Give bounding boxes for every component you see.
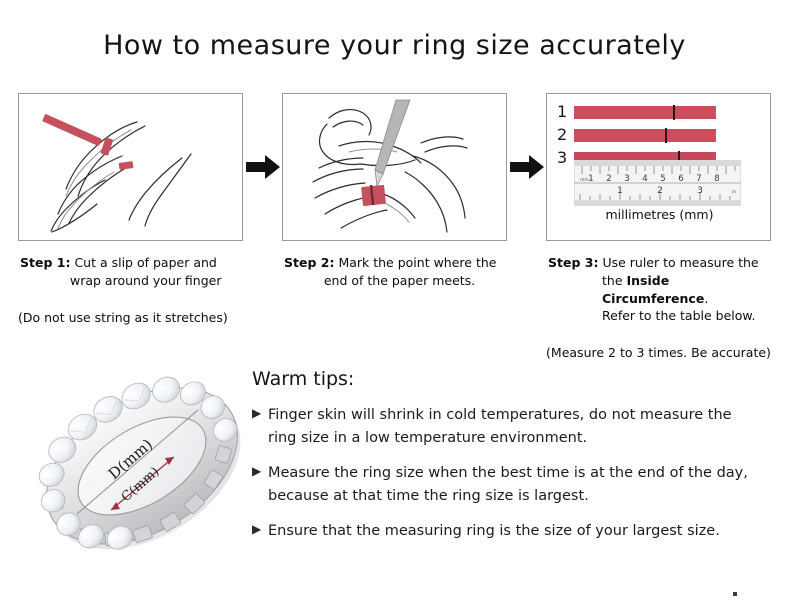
- strip-number: 3: [557, 150, 574, 166]
- step-3-column: 1 2 3: [546, 93, 771, 360]
- step-2-illustration-panel: [282, 93, 507, 241]
- svg-text:8: 8: [714, 174, 719, 184]
- strip-bar: [574, 106, 716, 119]
- ring-size-infographic: { "title": "How to measure your ring siz…: [0, 0, 789, 606]
- svg-text:2: 2: [606, 174, 611, 184]
- svg-text:4: 4: [642, 174, 647, 184]
- hand-marking-paper-with-pen-icon: [283, 94, 506, 240]
- step-2-column: Step 2: Mark the point where the end of …: [282, 93, 507, 290]
- step-3-line1: Use ruler to measure the: [602, 255, 758, 270]
- strip-mark-icon: [665, 128, 667, 143]
- tip-text: Ensure that the measuring ring is the si…: [268, 520, 720, 543]
- ruler-graphic: 12 34 56 78 mm: [574, 160, 741, 211]
- dual-scale-ruler-icon: 12 34 56 78 mm: [574, 160, 741, 206]
- bullet-triangle-icon: ▶: [252, 520, 268, 539]
- step-1-column: Step 1: Cut a slip of paper and wrap aro…: [18, 93, 243, 325]
- arrow-step1-to-step2: [243, 93, 282, 241]
- bullet-triangle-icon: ▶: [252, 404, 268, 423]
- svg-text:7: 7: [696, 174, 701, 184]
- step-3-line2-prefix: the: [602, 273, 627, 288]
- svg-text:mm: mm: [580, 178, 589, 183]
- svg-text:1: 1: [617, 186, 623, 196]
- step-2-caption: Step 2: Mark the point where the end of …: [282, 254, 507, 290]
- svg-text:in: in: [732, 189, 736, 195]
- step-1-illustration-panel: [18, 93, 243, 241]
- ring-diagram: D(mm) C(mm): [26, 352, 258, 580]
- step-2-line1: Mark the point where the: [338, 255, 496, 270]
- warm-tips-heading: Warm tips:: [252, 368, 752, 390]
- corner-artifact: [733, 592, 737, 596]
- strip-number: 2: [557, 127, 574, 143]
- step-3-note: (Measure 2 to 3 times. Be accurate): [546, 345, 771, 360]
- step-2-label: Step 2:: [284, 255, 334, 270]
- right-arrow-icon: [246, 154, 280, 180]
- svg-text:1: 1: [588, 174, 593, 184]
- step-3-label: Step 3:: [548, 255, 598, 270]
- svg-text:2: 2: [657, 186, 663, 196]
- eternity-ring-photo-icon: D(mm) C(mm): [26, 352, 258, 580]
- page-title: How to measure your ring size accurately: [0, 30, 789, 61]
- svg-text:5: 5: [660, 174, 665, 184]
- step-1-line1: Cut a slip of paper and: [74, 255, 216, 270]
- step-1-note: (Do not use string as it stretches): [18, 310, 243, 325]
- svg-text:3: 3: [624, 174, 629, 184]
- svg-text:3: 3: [697, 186, 703, 196]
- right-arrow-icon: [510, 154, 544, 180]
- tip-text: Finger skin will shrink in cold temperat…: [268, 404, 752, 451]
- warm-tips-section: Warm tips: ▶ Finger skin will shrink in …: [252, 368, 752, 554]
- step-2-line2: end of the paper meets.: [282, 272, 507, 290]
- tip-item: ▶ Measure the ring size when the best ti…: [252, 462, 752, 509]
- tip-item: ▶ Ensure that the measuring ring is the …: [252, 520, 752, 543]
- arrow-step2-to-step3: [507, 93, 546, 241]
- step-1-line2: wrap around your finger: [18, 272, 243, 290]
- tip-item: ▶ Finger skin will shrink in cold temper…: [252, 404, 752, 451]
- hand-with-paper-strip-icon: [19, 94, 242, 240]
- svg-text:6: 6: [678, 174, 683, 184]
- tip-text: Measure the ring size when the best time…: [268, 462, 752, 509]
- step-1-label: Step 1:: [20, 255, 70, 270]
- strip-row: 2: [557, 127, 716, 143]
- strip-number: 1: [557, 104, 574, 120]
- strip-mark-icon: [673, 105, 675, 120]
- steps-row: Step 1: Cut a slip of paper and wrap aro…: [18, 93, 771, 360]
- step-3-line2-suffix: .: [704, 291, 708, 306]
- bullet-triangle-icon: ▶: [252, 462, 268, 481]
- step-3-illustration-panel: 1 2 3: [546, 93, 771, 241]
- step-3-caption: Step 3: Use ruler to measure the the Ins…: [546, 254, 771, 325]
- step-1-caption: Step 1: Cut a slip of paper and wrap aro…: [18, 254, 243, 290]
- step-3-line3: Refer to the table below.: [546, 307, 771, 325]
- strip-row: 1: [557, 104, 716, 120]
- strip-bar: [574, 129, 716, 142]
- ruler-unit-caption: millimetres (mm): [557, 207, 762, 222]
